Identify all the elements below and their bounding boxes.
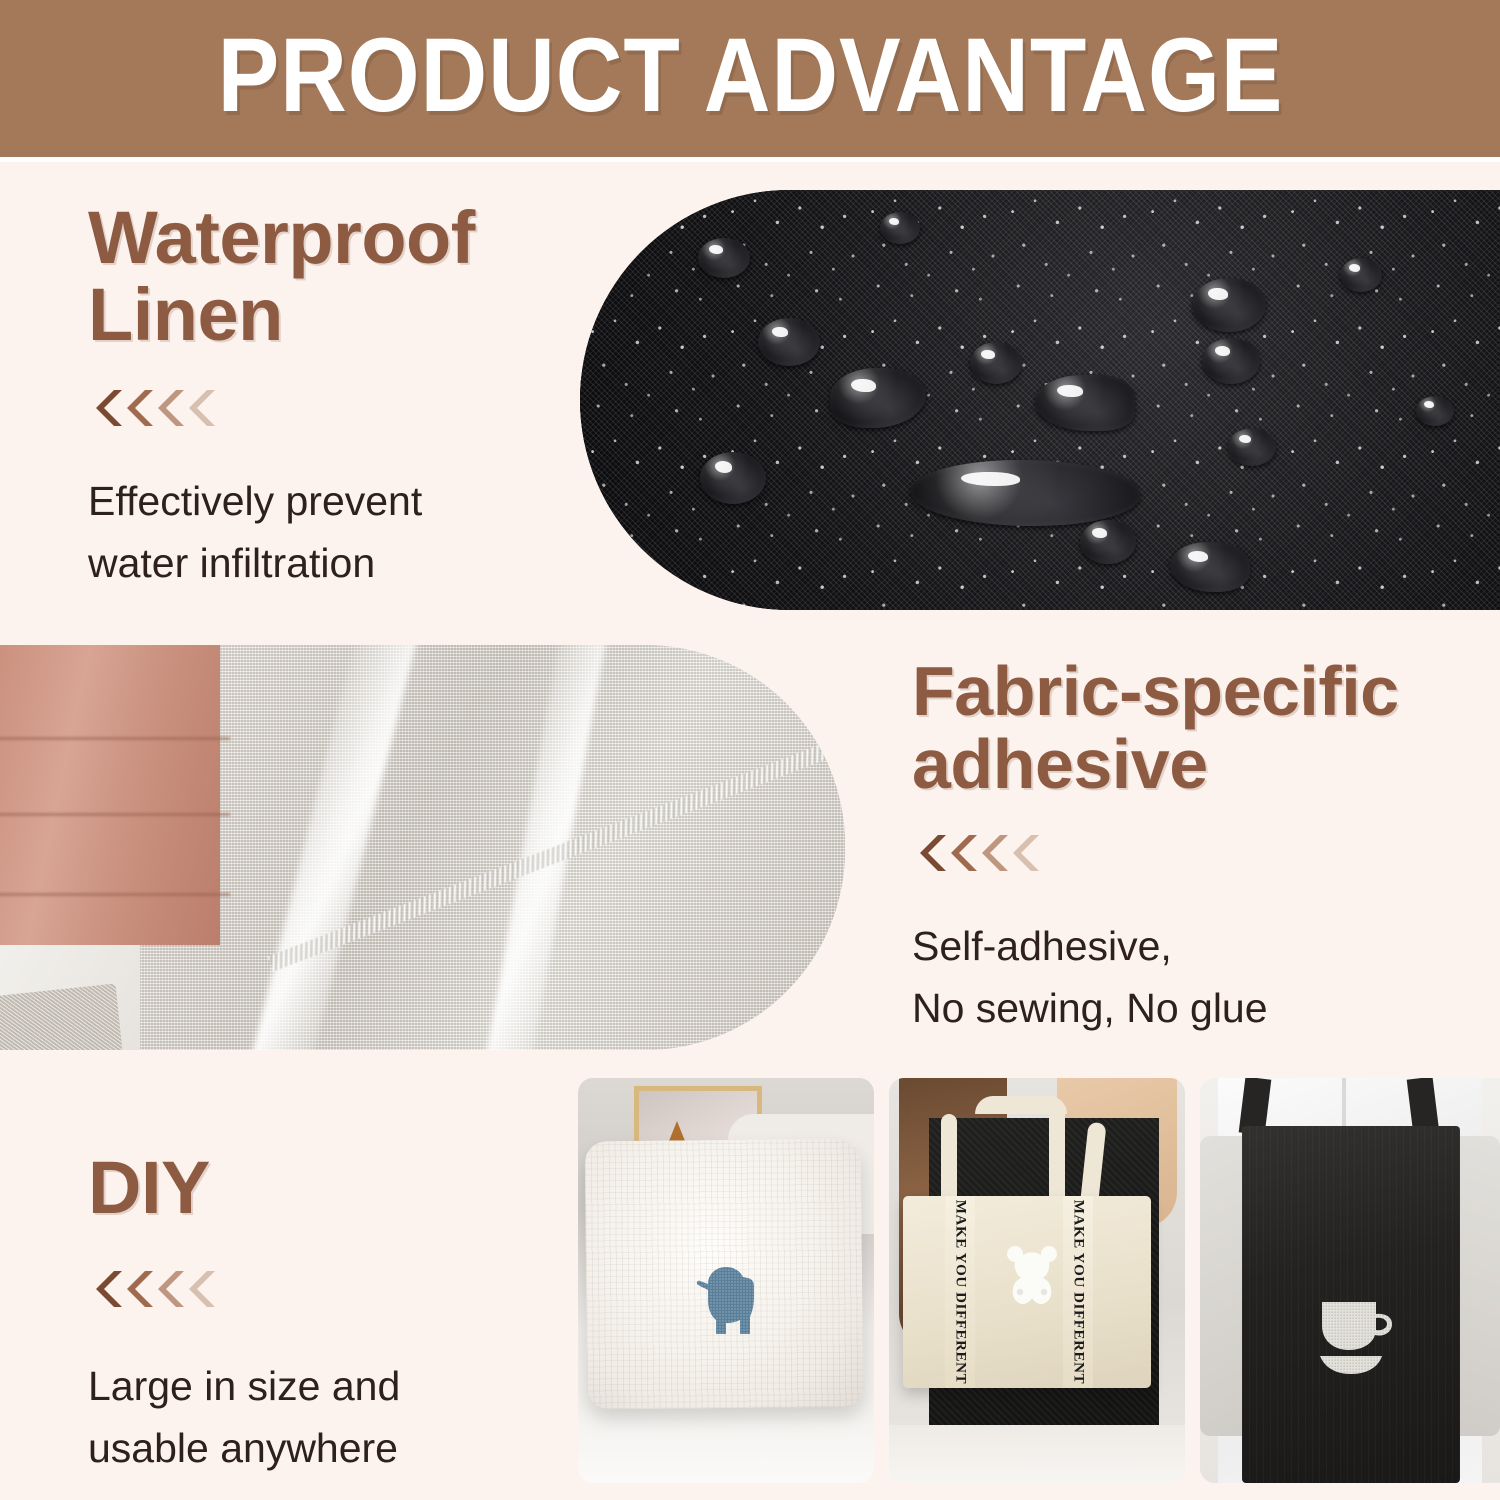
- chevron-left-icon: [189, 1269, 220, 1309]
- gallery-photo-apron: [1200, 1078, 1500, 1483]
- diy-heading: DIY: [88, 1150, 548, 1227]
- waterproof-body-line1: Effectively prevent: [88, 470, 558, 532]
- chevron-divider-waterproof: [96, 388, 558, 428]
- chevron-left-icon: [96, 388, 127, 428]
- waterproof-heading-line2: Linen: [88, 273, 283, 356]
- waterproof-heading-line1: Waterproof: [88, 196, 475, 279]
- linen-fabric-photo: [0, 645, 845, 1050]
- tote-strap-text: MAKE YOU DIFFERENT: [952, 1200, 969, 1384]
- chevron-left-icon: [189, 388, 220, 428]
- chevron-left-icon: [158, 388, 189, 428]
- water-droplet: [970, 342, 1022, 384]
- black-apron: [1242, 1126, 1460, 1483]
- section-adhesive-text: Fabric-specific adhesive Self-adhesive, …: [912, 655, 1472, 1039]
- water-droplet: [910, 460, 1140, 526]
- diy-body-line1: Large in size and: [88, 1355, 548, 1417]
- water-droplet: [1170, 542, 1250, 592]
- header-divider: [0, 157, 1500, 162]
- adhesive-body-line2: No sewing, No glue: [912, 977, 1472, 1039]
- product-advantage-infographic: PRODUCT ADVANTAGE Waterproof Linen Effec…: [0, 0, 1500, 1500]
- water-droplet: [1080, 520, 1136, 564]
- header-banner: PRODUCT ADVANTAGE: [0, 0, 1500, 157]
- water-droplets-layer: [580, 190, 1500, 610]
- chevron-left-icon: [951, 833, 982, 873]
- chevron-left-icon: [127, 388, 158, 428]
- chevron-left-icon: [127, 1269, 158, 1309]
- waterproof-body-line2: water infiltration: [88, 532, 558, 594]
- tote-print-band-right: MAKE YOU DIFFERENT: [1063, 1196, 1093, 1388]
- section-diy-text: DIY Large in size and usable anywhere: [88, 1150, 548, 1480]
- diy-body: Large in size and usable anywhere: [88, 1355, 548, 1480]
- chevron-divider-adhesive: [920, 833, 1472, 873]
- page-title: PRODUCT ADVANTAGE: [217, 23, 1283, 134]
- adhesive-heading-line1: Fabric-specific: [912, 652, 1399, 730]
- water-droplet: [830, 368, 926, 428]
- tote-print-band-left: MAKE YOU DIFFERENT: [945, 1196, 975, 1388]
- section-waterproof-text: Waterproof Linen Effectively prevent wat…: [88, 200, 558, 595]
- finger-crease: [0, 737, 230, 740]
- water-droplet: [1192, 278, 1266, 332]
- water-droplet: [1202, 338, 1260, 384]
- diy-body-line2: usable anywhere: [88, 1417, 548, 1479]
- hand-holding-fabric: [0, 645, 220, 945]
- chevron-divider-diy: [96, 1269, 548, 1309]
- water-droplet: [1340, 258, 1382, 292]
- water-droplet: [880, 212, 920, 244]
- finger-crease: [0, 893, 230, 896]
- chevron-left-icon: [920, 833, 951, 873]
- waterproof-fabric-photo: [580, 190, 1500, 610]
- water-droplet: [1228, 428, 1276, 466]
- waterproof-heading: Waterproof Linen: [88, 200, 558, 354]
- water-droplet: [1035, 375, 1135, 431]
- chevron-left-icon: [982, 833, 1013, 873]
- gallery-photo-pillow: [578, 1078, 874, 1483]
- finger-crease: [0, 813, 230, 816]
- floor: [889, 1425, 1185, 1483]
- tote-handle: [975, 1096, 1067, 1114]
- fabric-corner-flap: [0, 983, 124, 1050]
- chevron-left-icon: [1013, 833, 1044, 873]
- adhesive-body: Self-adhesive, No sewing, No glue: [912, 915, 1472, 1040]
- tote-strap-text: MAKE YOU DIFFERENT: [1070, 1200, 1087, 1384]
- adhesive-heading-line2: adhesive: [912, 725, 1208, 803]
- waterproof-body: Effectively prevent water infiltration: [88, 470, 558, 595]
- gallery-photo-tote-bag: MAKE YOU DIFFERENT MAKE YOU DIFFERENT: [889, 1078, 1185, 1483]
- diy-heading-line1: DIY: [88, 1146, 210, 1229]
- water-droplet: [758, 318, 820, 366]
- adhesive-body-line1: Self-adhesive,: [912, 915, 1472, 977]
- teacup-silhouette-patch: [1316, 1296, 1398, 1376]
- tote-bag-body: MAKE YOU DIFFERENT MAKE YOU DIFFERENT: [903, 1196, 1151, 1388]
- chevron-left-icon: [96, 1269, 127, 1309]
- water-droplet: [1416, 396, 1454, 426]
- tote-handle: [1049, 1106, 1065, 1210]
- teddy-bear-silhouette-patch: [999, 1246, 1065, 1320]
- chevron-left-icon: [158, 1269, 189, 1309]
- water-droplet: [700, 452, 766, 504]
- diy-example-gallery: MAKE YOU DIFFERENT MAKE YOU DIFFERENT: [578, 1078, 1500, 1483]
- dog-silhouette-patch: [686, 1254, 772, 1346]
- sofa-seat: [578, 1403, 874, 1483]
- adhesive-heading: Fabric-specific adhesive: [912, 655, 1472, 801]
- water-droplet: [698, 238, 750, 278]
